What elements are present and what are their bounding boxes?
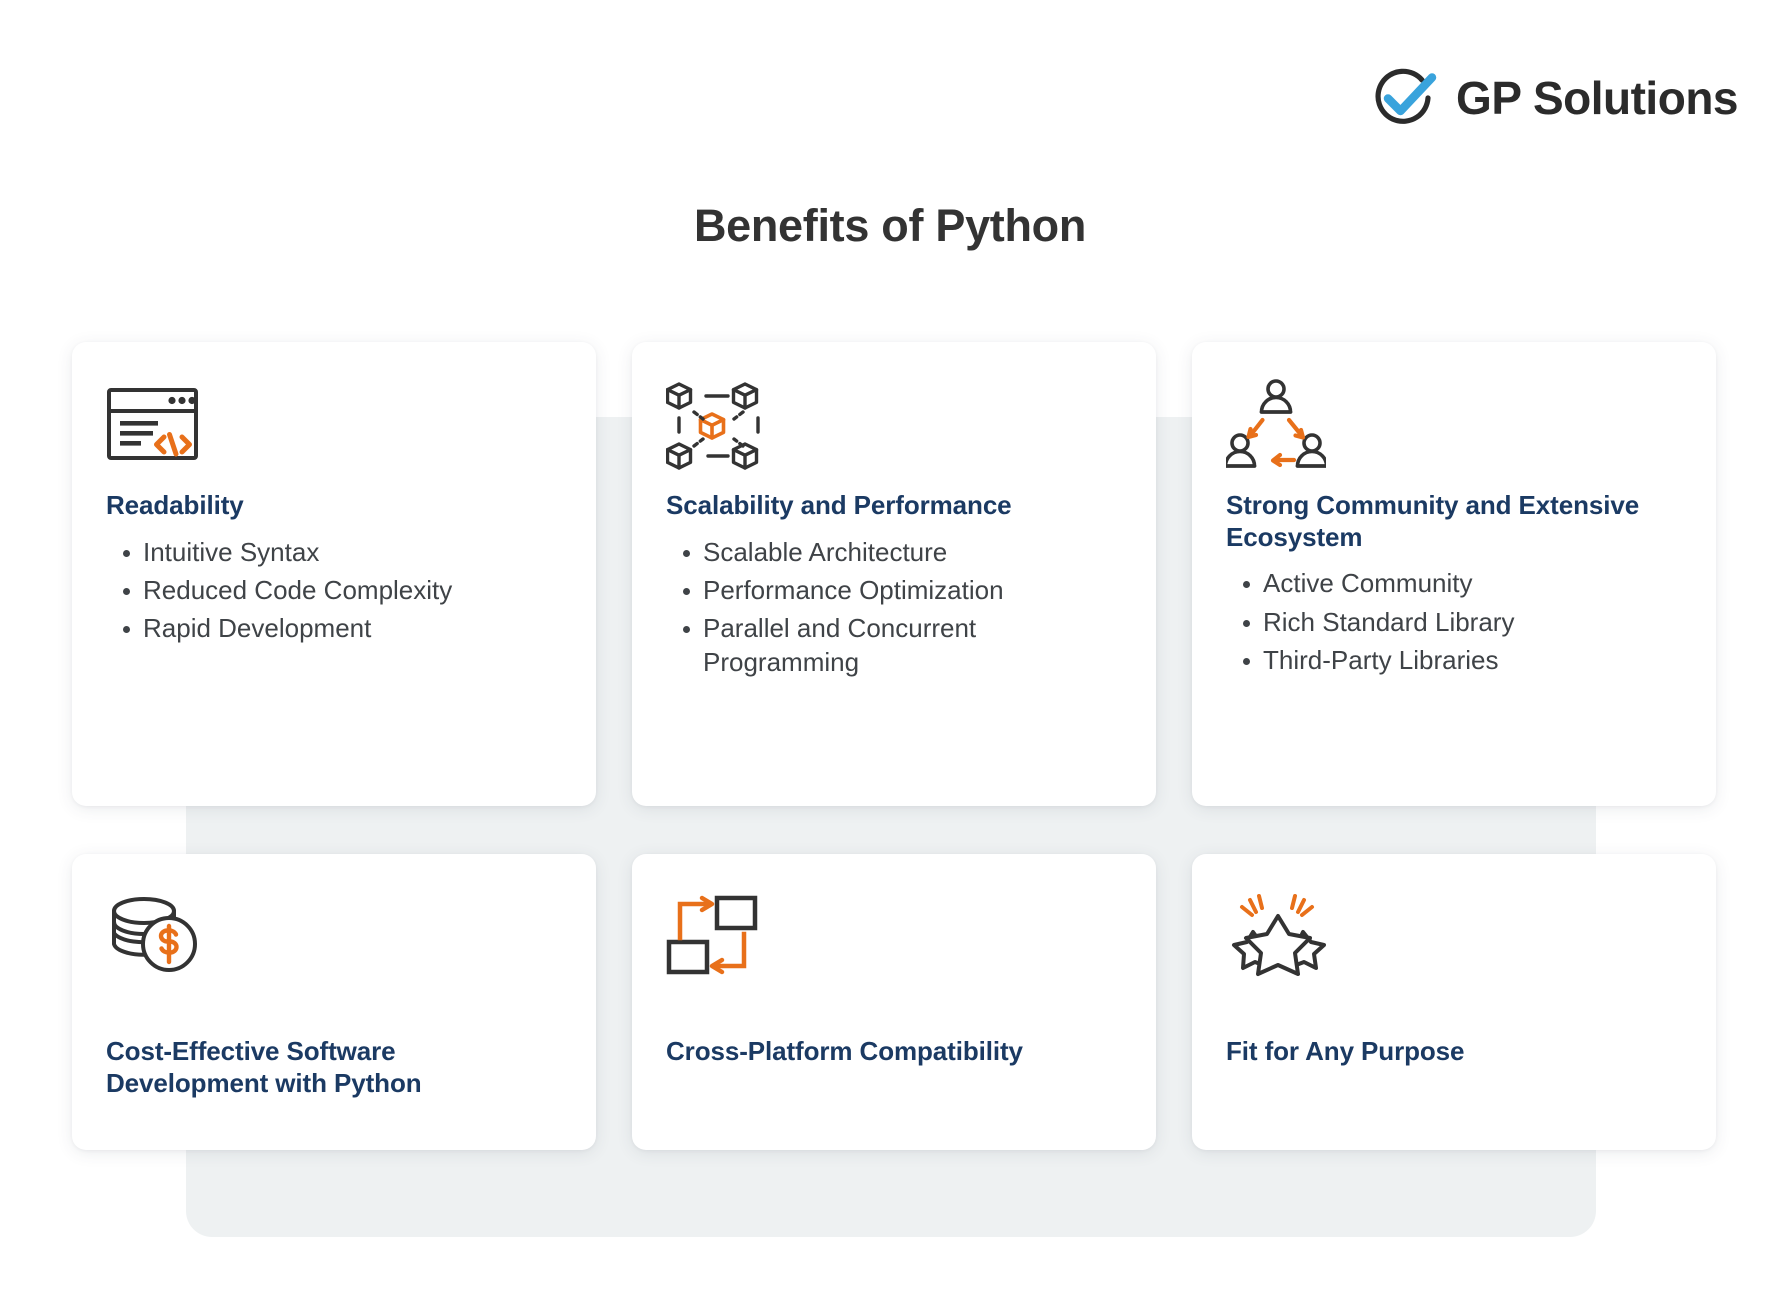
card-bullet-list: Intuitive Syntax Reduced Code Complexity… [106,536,562,646]
list-item: Reduced Code Complexity [106,574,562,607]
card-title: Scalability and Performance [666,490,1122,522]
benefits-grid: Readability Intuitive Syntax Reduced Cod… [72,342,1716,1150]
card-title: Cost-Effective Software Development with… [106,1036,562,1099]
card-title: Strong Community and Extensive Ecosystem [1226,490,1682,553]
card-title: Cross-Platform Compatibility [666,1036,1122,1068]
check-circle-icon [1367,62,1439,134]
brand-name: GP Solutions [1456,75,1738,121]
page-title: Benefits of Python [0,200,1780,252]
network-cubes-icon [666,376,1122,472]
card-title: Fit for Any Purpose [1226,1036,1682,1068]
infographic-page: GP Solutions Benefits of Python [0,0,1780,1296]
list-item: Parallel and Concurrent Programming [666,612,1122,679]
list-item: Scalable Architecture [666,536,1122,569]
benefit-card-scalability[interactable]: Scalability and Performance Scalable Arc… [632,342,1156,806]
benefit-card-any-purpose[interactable]: Fit for Any Purpose [1192,854,1716,1150]
card-bullet-list: Scalable Architecture Performance Optimi… [666,536,1122,679]
benefit-card-readability[interactable]: Readability Intuitive Syntax Reduced Cod… [72,342,596,806]
list-item: Performance Optimization [666,574,1122,607]
community-people-icon [1226,376,1682,472]
list-item: Intuitive Syntax [106,536,562,569]
code-window-icon [106,376,562,472]
benefit-card-cross-platform[interactable]: Cross-Platform Compatibility [632,854,1156,1150]
list-item: Third-Party Libraries [1226,644,1682,677]
brand-logo: GP Solutions [1367,62,1738,134]
cross-platform-screens-icon [666,888,1122,984]
three-stars-icon [1226,888,1682,984]
list-item: Rich Standard Library [1226,606,1682,639]
coins-dollar-icon [106,888,562,984]
list-item: Rapid Development [106,612,562,645]
card-bullet-list: Active Community Rich Standard Library T… [1226,567,1682,677]
list-item: Active Community [1226,567,1682,600]
benefit-card-cost-effective[interactable]: Cost-Effective Software Development with… [72,854,596,1150]
card-title: Readability [106,490,562,522]
benefit-card-community[interactable]: Strong Community and Extensive Ecosystem… [1192,342,1716,806]
